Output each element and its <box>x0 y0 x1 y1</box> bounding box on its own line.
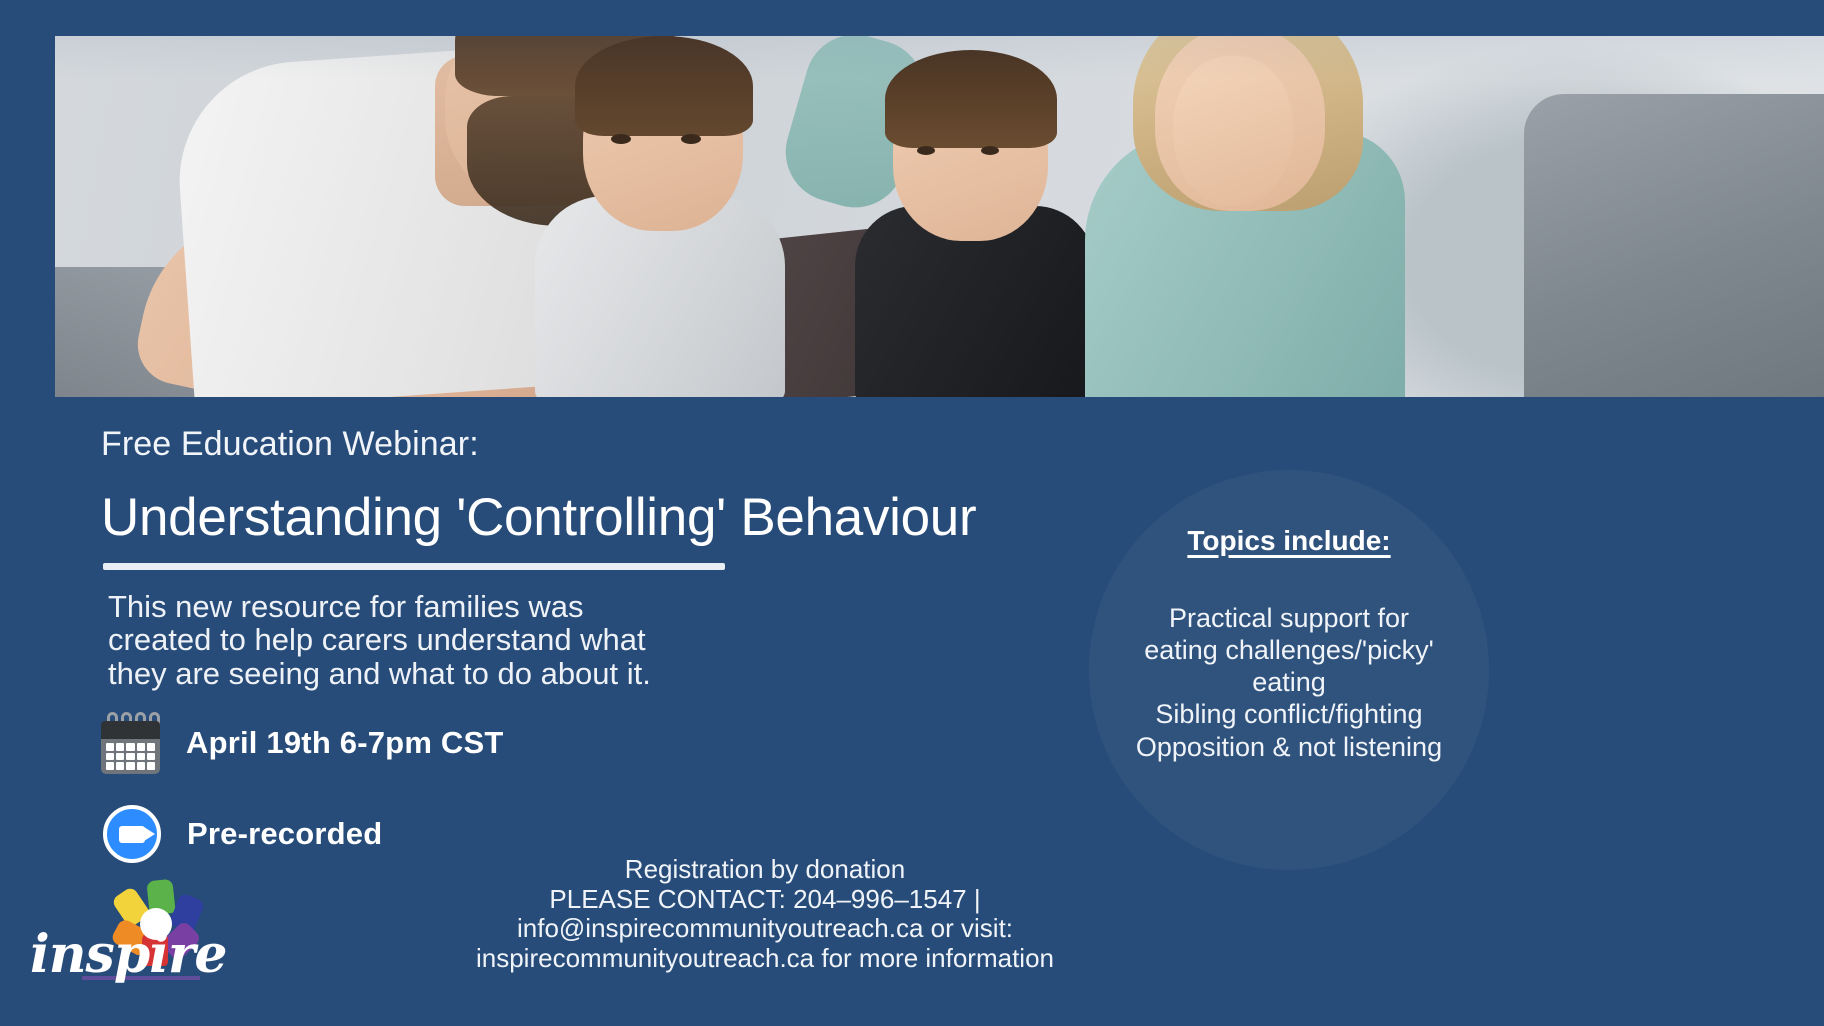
calendar-header-bar <box>101 721 160 739</box>
topics-panel: Topics include: Practical support for ea… <box>1089 470 1489 763</box>
eyebrow-text: Free Education Webinar: <box>101 425 479 464</box>
video-camera-icon <box>103 805 161 863</box>
description-text: This new resource for families was creat… <box>108 590 651 690</box>
inspire-logo: inspire <box>22 880 200 992</box>
couch-cushion-right <box>1524 94 1824 397</box>
page-title: Understanding 'Controlling' Behaviour <box>101 487 976 548</box>
child-one-hair <box>575 36 753 136</box>
logo-wordmark: inspire <box>30 924 226 985</box>
child-two-eye-right <box>981 146 999 155</box>
child-one-eye-left <box>611 134 631 144</box>
topics-heading: Topics include: <box>1089 525 1489 557</box>
camera-glyph <box>119 826 145 843</box>
date-label: April 19th 6-7pm CST <box>186 725 504 761</box>
mother-face <box>1173 56 1293 206</box>
child-two-hair <box>885 50 1057 148</box>
calendar-icon <box>101 712 160 774</box>
hero-photo <box>55 36 1824 397</box>
registration-contact-text: Registration by donation PLEASE CONTACT:… <box>430 855 1100 974</box>
calendar-grid <box>101 739 160 774</box>
format-label: Pre-recorded <box>187 816 382 852</box>
title-underline-rule <box>103 563 725 570</box>
topics-list: Practical support for eating challenges/… <box>1089 602 1489 763</box>
info-row-format: Pre-recorded <box>103 805 382 863</box>
info-row-date: April 19th 6-7pm CST <box>101 712 504 774</box>
child-one-eye-right <box>681 134 701 144</box>
child-two-eye-left <box>917 146 935 155</box>
